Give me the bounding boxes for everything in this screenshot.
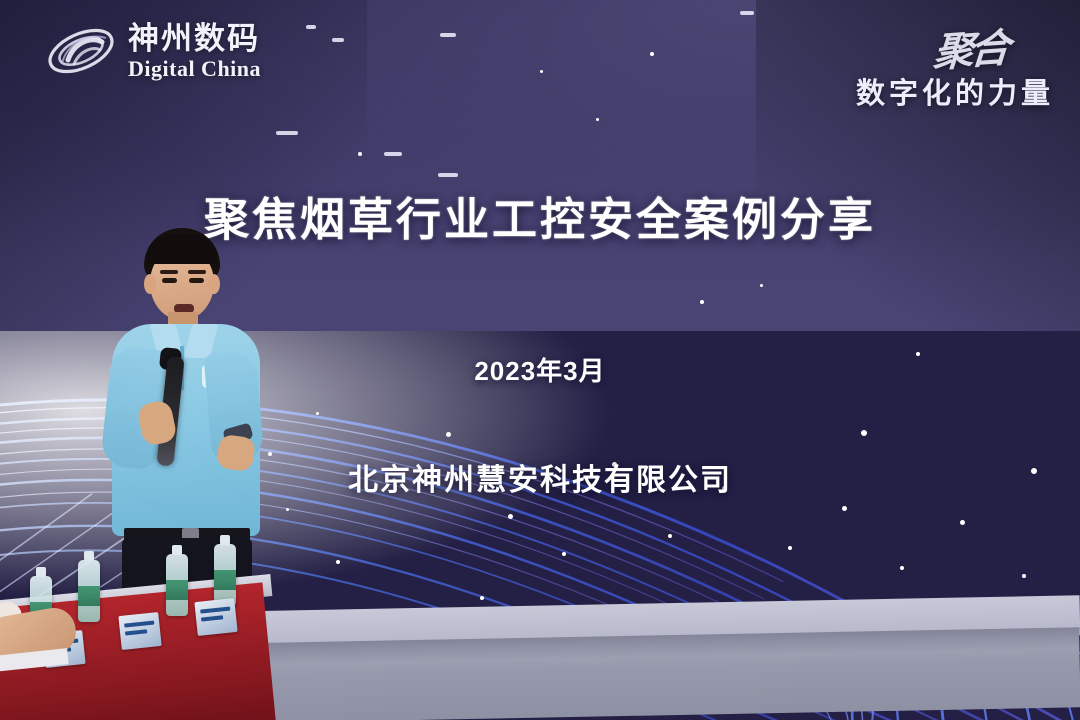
- speaker-eye-right: [189, 278, 204, 283]
- speaker-eye-left: [162, 278, 177, 283]
- brand-logo: 神州数码 Digital China: [44, 20, 261, 82]
- name-card-line: [200, 606, 230, 613]
- name-card-line: [125, 629, 147, 635]
- name-card-line: [201, 615, 223, 621]
- name-card: [194, 598, 237, 636]
- spiral-swirl-icon: [44, 20, 118, 82]
- conference-stage-photo: 聚焦烟草行业工控安全案例分享 2023年3月 北京神州慧安科技有限公司 神州数码: [0, 0, 1080, 720]
- slogan-subtitle: 数字化的力量: [794, 70, 1054, 112]
- brand-name-en: Digital China: [128, 58, 261, 80]
- name-card: [118, 612, 161, 650]
- brand-text-block: 神州数码 Digital China: [128, 23, 261, 80]
- water-bottle: [166, 554, 188, 616]
- speaker-ear-right: [208, 274, 220, 294]
- water-bottle: [78, 560, 100, 622]
- speaker-ear-left: [144, 274, 156, 294]
- brand-name-cn: 神州数码: [128, 23, 261, 54]
- event-slogan: 聚合 数字化的力量: [794, 18, 1054, 112]
- name-card-line: [124, 620, 154, 627]
- speaker-brow-right: [188, 270, 206, 274]
- slogan-calligraphy: 聚合: [932, 16, 1009, 79]
- water-bottle: [214, 544, 236, 606]
- speaker-hair-top: [146, 234, 218, 264]
- speaker-brow-left: [160, 270, 178, 274]
